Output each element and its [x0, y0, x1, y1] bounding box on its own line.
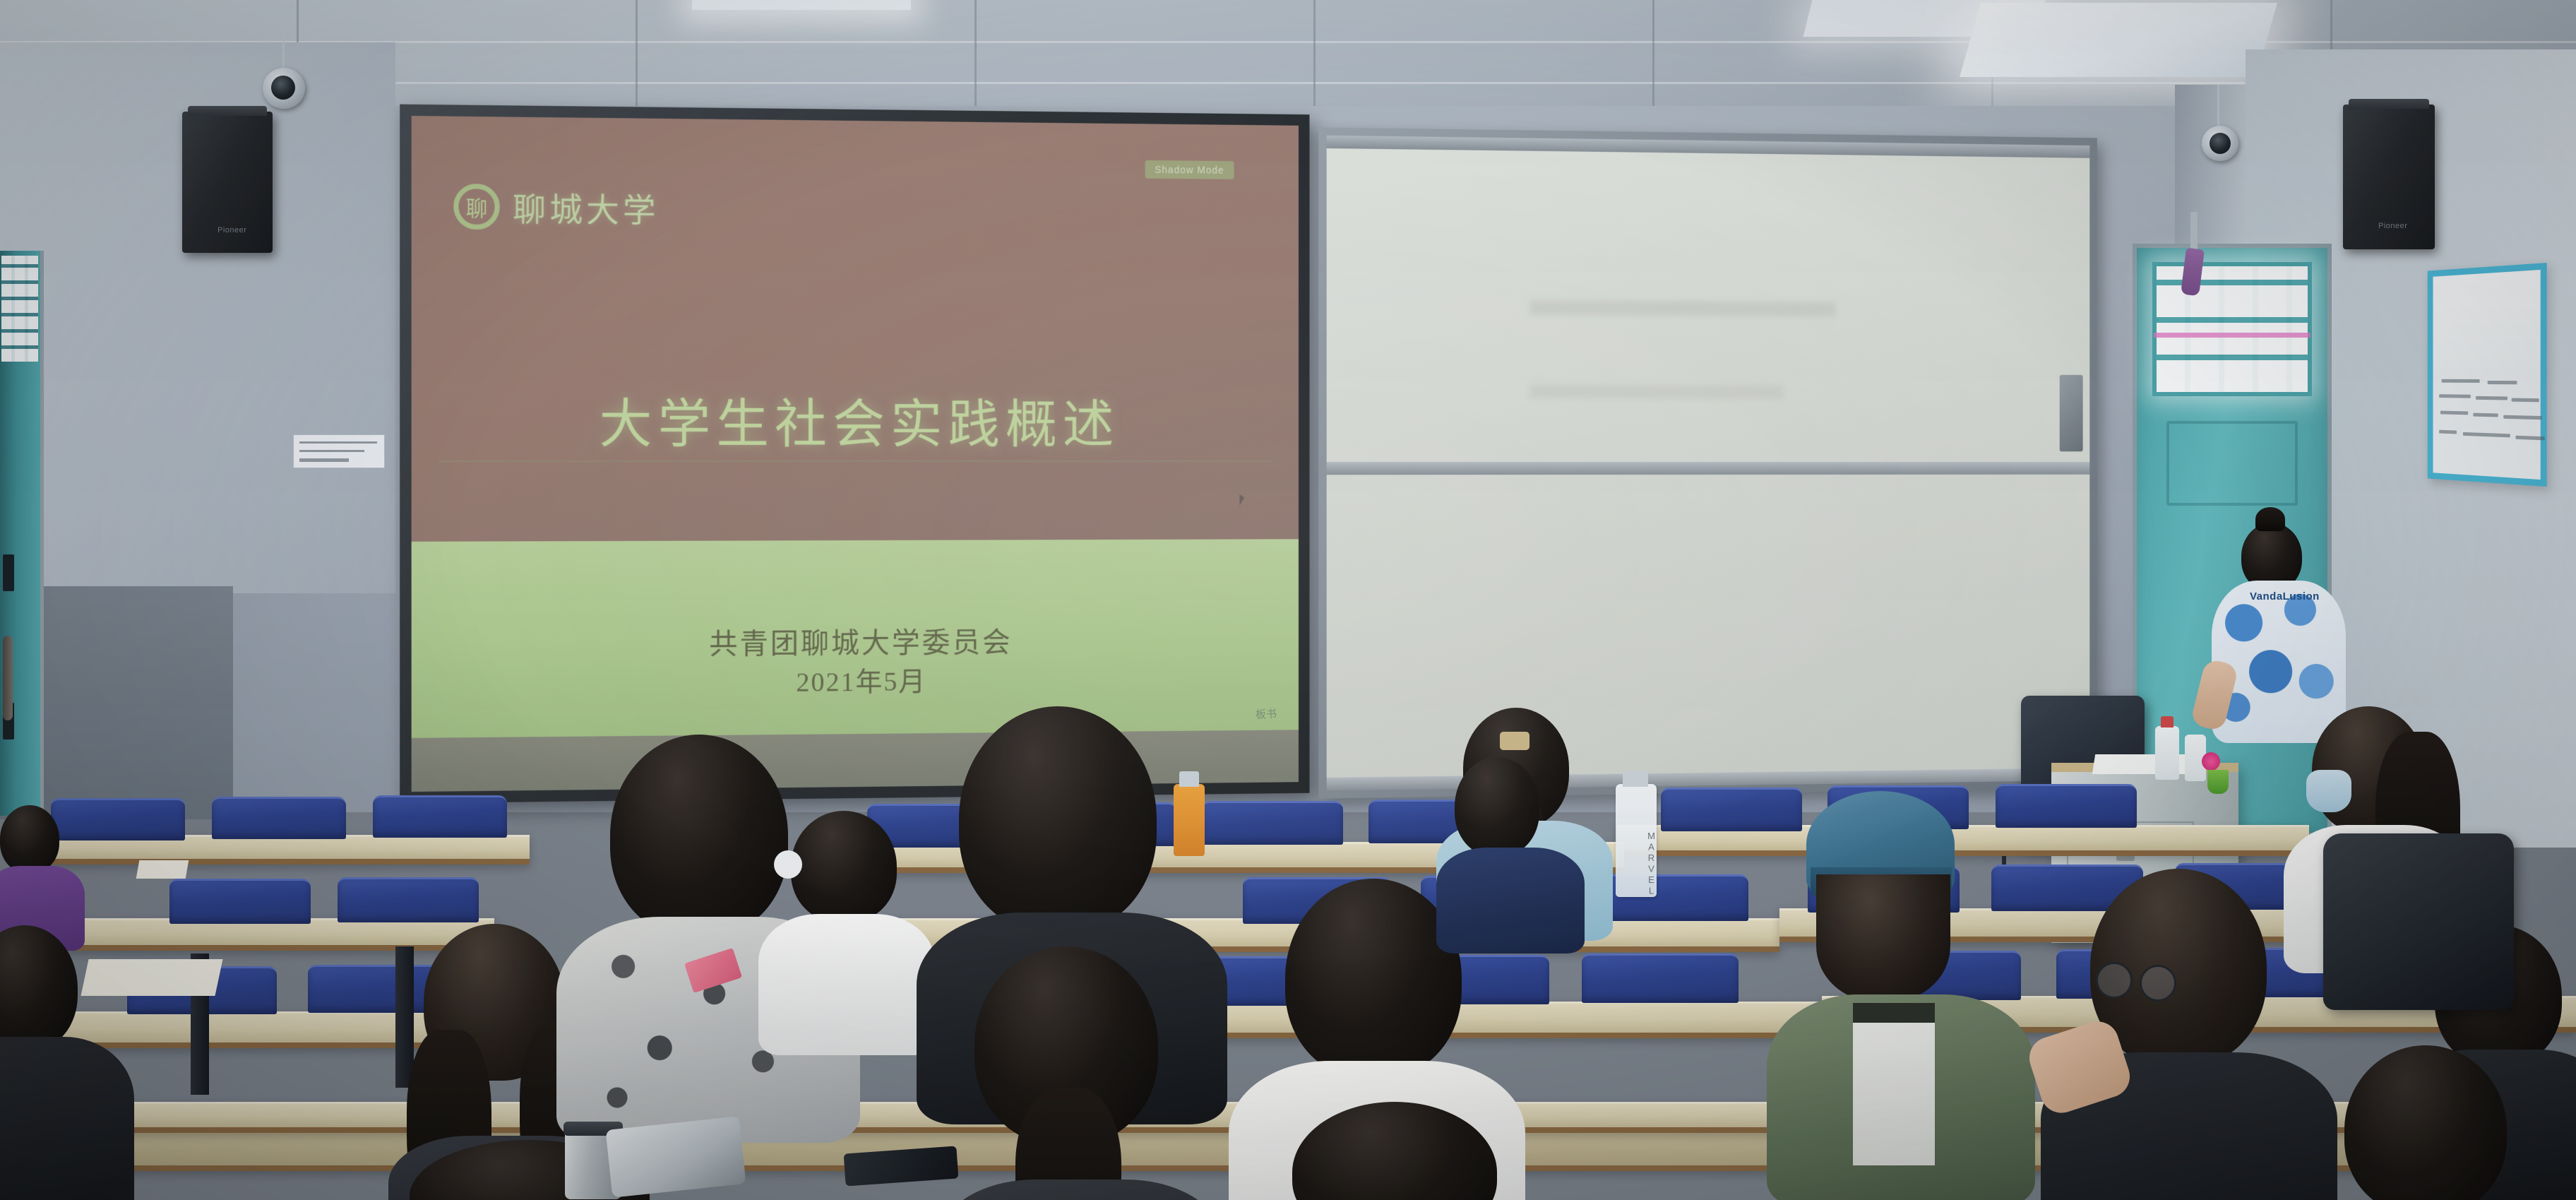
whiteboard-surface: [1327, 136, 2090, 791]
wall-speaker-right: Pioneer: [2343, 105, 2435, 249]
marker-holder-icon[interactable]: [2060, 375, 2083, 451]
face-mask-icon: [2306, 770, 2351, 812]
person-torso: [2212, 581, 2346, 743]
spray-bottle-icon: [2155, 726, 2179, 780]
bottle-cap-icon: [1179, 771, 1199, 787]
slide-surface: 聊 聊城大学 Shadow Mode 大学生社会实践概述 共青团聊城大学委员会 …: [412, 116, 1299, 792]
shirt-text: VandaLusion: [2250, 590, 2320, 602]
person-head: [610, 735, 788, 937]
whiteboard-side-note: 板书: [1256, 706, 1277, 721]
desk-row: [1151, 1002, 1822, 1038]
glasses-icon: [2140, 965, 2176, 1002]
juice-bottle: [1174, 784, 1205, 856]
camera-cable: [282, 28, 285, 71]
shirt-stripe: [1853, 1003, 1935, 1023]
bottle-cap-icon: [1623, 771, 1648, 787]
person-torso: [939, 1180, 1222, 1200]
seat[interactable]: [1996, 784, 2137, 828]
slide-bottom-strip: [412, 730, 1299, 792]
mouse-cursor-icon: [1239, 494, 1244, 506]
ceiling-light-icon: [692, 0, 911, 10]
papers-icon: [136, 860, 189, 879]
person-torso: [758, 914, 935, 1055]
security-camera-icon-right: [2202, 126, 2238, 161]
slide-divider: [439, 461, 1272, 462]
hair-clip-icon: [1500, 732, 1529, 750]
seat[interactable]: [1661, 788, 1802, 831]
seat[interactable]: [51, 798, 185, 840]
person-head: [791, 811, 897, 922]
slide-title: 大学生社会实践概述: [412, 381, 1299, 458]
slide-footer: 共青团聊城大学委员会 2021年5月: [412, 622, 1299, 706]
classroom-photo: Pioneer Pioneer 聊 聊城大学 Shadow Mode 大学生社会…: [0, 0, 2576, 1200]
desk-leg: [395, 946, 414, 1088]
person-head: [1816, 874, 1950, 1002]
camera-cable: [2217, 85, 2219, 129]
person-torso: [1436, 848, 1585, 954]
door-hook-icon: [2190, 212, 2198, 253]
bottle-cap-icon: [2161, 716, 2173, 727]
seat[interactable]: [373, 795, 507, 838]
whiteboard[interactable]: [1318, 127, 2097, 798]
university-name-label: 聊城大学: [513, 184, 659, 232]
whiteboard-ghost-text: [1529, 385, 1782, 398]
university-seal-icon: 聊: [453, 184, 500, 230]
wall-notice-icon: [293, 434, 385, 468]
projection-screen[interactable]: 聊 聊城大学 Shadow Mode 大学生社会实践概述 共青团聊城大学委员会 …: [400, 105, 1309, 804]
pencil-case-icon: [606, 1116, 746, 1197]
seat[interactable]: [1582, 954, 1739, 1003]
security-camera-icon-left: [263, 68, 305, 109]
glasses-icon: [2096, 962, 2133, 999]
seal-glyph: 聊: [466, 191, 488, 222]
seat[interactable]: [338, 877, 479, 922]
door-panel: [2166, 421, 2298, 506]
slide-badge: Shadow Mode: [1145, 160, 1234, 179]
slide-footer-org: 共青团聊城大学委员会: [412, 622, 1299, 667]
slide-footer-date: 2021年5月: [412, 661, 1299, 706]
ceiling-light-icon: [1960, 3, 2277, 77]
shirt-stripe: [1853, 1003, 1935, 1165]
backpack-icon: [2323, 833, 2514, 1010]
door-handle[interactable]: [3, 636, 13, 720]
plant-icon: [2207, 770, 2229, 794]
door-window-glass: [1, 256, 38, 362]
seat[interactable]: [169, 879, 311, 924]
window-tape: [2154, 333, 2310, 338]
bottle-brand-label: MARVEL: [1616, 831, 1657, 896]
hair-tie-icon: [774, 850, 802, 879]
hair-bun: [2255, 507, 2285, 531]
flower-icon: [2202, 752, 2220, 771]
slide-logo: 聊 聊城大学: [453, 183, 659, 232]
whiteboard-ghost-text: [1529, 301, 1835, 317]
speaker-brand-label: Pioneer: [2378, 222, 2407, 230]
person-head: [959, 706, 1157, 932]
person-head: [1455, 757, 1539, 856]
wall-poster: [2428, 263, 2547, 487]
person-head: [1285, 879, 1462, 1078]
slide-top-band: [412, 116, 1299, 542]
notebook-icon: [80, 959, 222, 996]
door-window-glass: [2152, 262, 2312, 396]
wall-speaker-left: Pioneer: [182, 112, 273, 253]
speaker-brand-label: Pioneer: [217, 226, 246, 234]
person-torso: [0, 1037, 134, 1200]
marvel-water-bottle: MARVEL: [1616, 784, 1657, 897]
seat[interactable]: [212, 797, 346, 839]
smartphone-icon[interactable]: [844, 1146, 959, 1186]
seat[interactable]: [1202, 801, 1343, 845]
person-head: [0, 805, 59, 873]
poster-glare: [2433, 270, 2540, 367]
